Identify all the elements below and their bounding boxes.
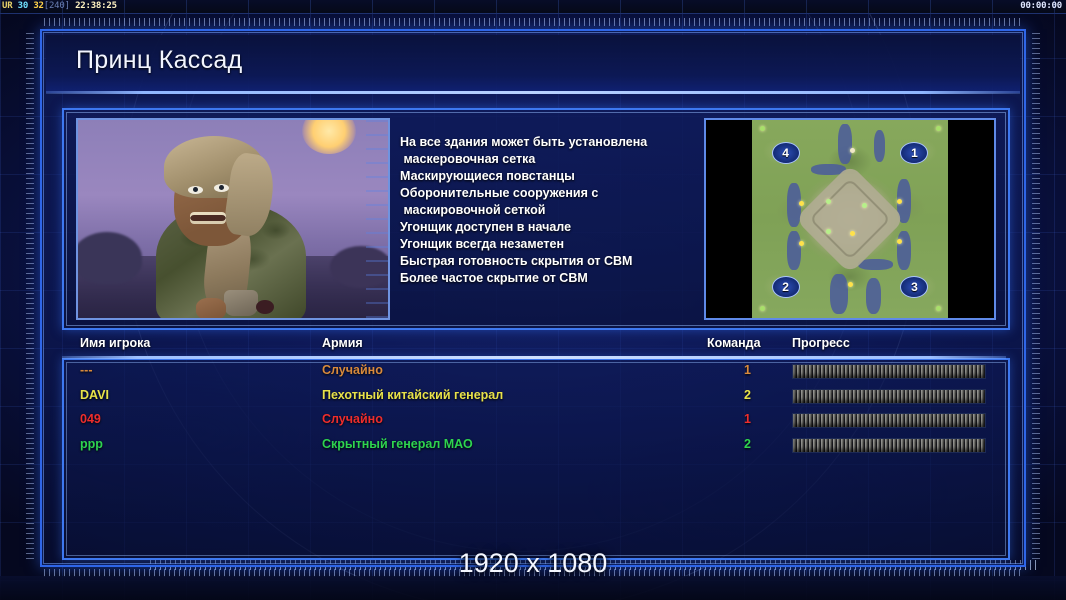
frame-value: 32 [33,1,43,11]
start-position-2: 2 [772,276,800,298]
ruler-strip-right [1032,33,1040,563]
description-line: На все здания может быть установлена [400,134,700,151]
general-description: На все здания может быть установлена мас… [400,134,700,287]
description-line: Более частое скрытие от СВМ [400,270,700,287]
players-table-header: Имя игрока Армия Команда Прогресс [62,336,1006,356]
fps-counter: UR 30 32[240] 22:38:25 [2,0,117,13]
progress-bar [792,438,986,453]
start-position-1: 1 [900,142,928,164]
description-line: Угонщик доступен в начале [400,219,700,236]
players-table-body: ---Случайно1DAVIПехотный китайский генер… [64,360,1004,458]
progress-bar [792,413,986,428]
player-name: ppp [80,437,103,451]
fps-label: UR [2,1,12,11]
progress-bar [792,389,986,404]
header-divider [62,356,1006,359]
description-line: Угонщик всегда незаметен [400,236,700,253]
general-portrait [76,118,390,320]
start-position-4: 4 [772,142,800,164]
column-header-army: Армия [322,336,363,350]
player-army: Случайно [322,412,383,426]
game-loading-screen: UR 30 32[240] 22:38:25 00:00:00 Принц Ка… [0,0,1066,600]
player-name: 049 [80,412,101,426]
bottom-strip [0,576,1066,600]
table-row[interactable]: pppСкрытный генерал МАО2 [64,434,1004,459]
frame-bracket: [240] [44,1,70,11]
briefing-panel: На все здания может быть установлена мас… [62,108,1010,330]
table-row[interactable]: DAVIПехотный китайский генерал2 [64,385,1004,410]
session-time: 22:38:25 [75,1,117,11]
title-bar: Принц Кассад [46,35,1020,93]
player-army: Пехотный китайский генерал [322,388,503,402]
player-team: 1 [744,363,751,377]
player-team: 1 [744,412,751,426]
match-timer: 00:00:00 [1020,0,1062,13]
description-line: Маскирующиеся повстанцы [400,168,700,185]
player-team: 2 [744,437,751,451]
table-row[interactable]: ---Случайно1 [64,360,1004,385]
player-team: 2 [744,388,751,402]
player-army: Случайно [322,363,383,377]
player-army: Скрытный генерал МАО [322,437,473,451]
player-name: DAVI [80,388,109,402]
player-name: --- [80,363,93,377]
description-line: маскеровочная сетка [400,151,700,168]
progress-bar [792,364,986,379]
ruler-strip-left [26,33,34,563]
column-header-progress: Прогресс [792,336,850,350]
ruler-strip-top [44,18,1022,26]
top-status-bar: UR 30 32[240] 22:38:25 00:00:00 [0,0,1066,14]
column-header-team: Команда [707,336,761,350]
description-line: Оборонительные сооружения с [400,185,700,202]
fps-value: 30 [18,1,28,11]
column-header-name: Имя игрока [80,336,150,350]
table-row[interactable]: 049Случайно1 [64,409,1004,434]
description-line: маскировочной сеткой [400,202,700,219]
resolution-overlay: 1920 x 1080 [0,548,1066,579]
map-preview: 4 1 2 3 [704,118,996,320]
description-line: Быстрая готовность скрытия от СВМ [400,253,700,270]
page-title: Принц Кассад [76,46,242,75]
